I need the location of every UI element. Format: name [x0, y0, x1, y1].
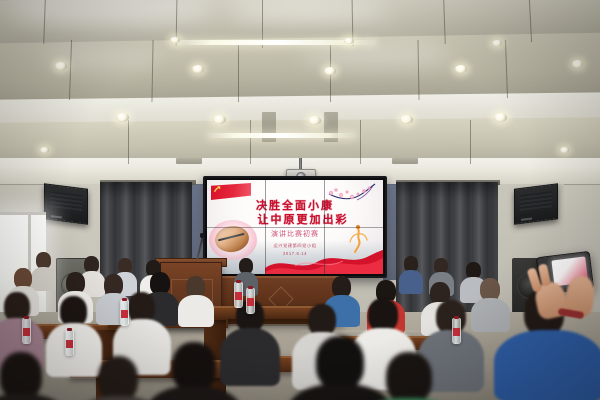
water-bottle[interactable] [246, 288, 255, 314]
projection-screen[interactable]: 决胜全面小康 让中原更加出彩 演讲比赛初赛 运兴党建第四党小组 2017.6.1… [203, 176, 387, 278]
torso [220, 328, 280, 386]
linear-light-fixture [208, 133, 356, 138]
bottle-cap [122, 298, 127, 301]
slide-organization: 运兴党建第四党小组 [207, 243, 383, 249]
bottle-label [247, 298, 254, 306]
slide-date: 2017.6.14 [207, 251, 383, 256]
bottle-label [453, 328, 460, 336]
ceiling-downlight [192, 65, 204, 73]
ceiling-downlight [324, 67, 336, 75]
ceiling-seam [250, 120, 251, 164]
head [98, 356, 138, 400]
water-bottle[interactable] [22, 318, 31, 344]
ceiling-seam [360, 120, 361, 164]
screen-surface: 决胜全面小康 让中原更加出彩 演讲比赛初赛 运兴党建第四党小组 2017.6.1… [207, 180, 383, 274]
ceiling-seam [238, 40, 239, 102]
video-wall-seam [207, 227, 383, 228]
torso [46, 323, 102, 377]
water-bottle[interactable] [65, 330, 74, 356]
water-bottle[interactable] [120, 300, 129, 326]
bottle-cap [454, 316, 459, 319]
ceiling-downlight [572, 60, 583, 68]
ceiling-vent [392, 158, 418, 164]
window-frame [0, 212, 46, 215]
bottle-cap [67, 328, 72, 331]
slide-title-line2: 让中原更加出彩 [207, 211, 383, 227]
torso [178, 295, 214, 327]
speaker-brand-mark [51, 215, 62, 218]
ceiling-downlight [213, 115, 226, 124]
head [172, 342, 216, 392]
ceiling-downlight [494, 113, 507, 122]
head [436, 300, 466, 334]
bottle-label [235, 292, 242, 300]
hammer-sickle-emblem-icon [213, 185, 222, 194]
ceiling-downlight [344, 38, 354, 44]
water-bottle[interactable] [452, 318, 461, 344]
bottle-label [66, 340, 73, 348]
ceiling-seam [128, 120, 129, 164]
ceiling [0, 0, 600, 176]
slide-subtitle: 演讲比赛初赛 [207, 229, 383, 239]
microphone-head-icon [200, 233, 204, 238]
speaker-brand-mark [521, 217, 532, 220]
ceiling-downlight [55, 62, 67, 70]
wall-speaker-right [514, 183, 558, 224]
ceiling-downlight [455, 65, 467, 73]
ceiling-seam [470, 120, 471, 164]
ceiling-downlight [40, 147, 49, 153]
bottle-label [121, 310, 128, 318]
torso [494, 330, 600, 400]
conference-hall-photo: 决胜全面小康 让中原更加出彩 演讲比赛初赛 运兴党建第四党小组 2017.6.1… [0, 0, 600, 400]
bottle-label [23, 328, 30, 336]
head [368, 298, 398, 332]
ceiling-downlight [116, 113, 129, 122]
water-bottle[interactable] [234, 282, 243, 308]
bottle-cap [248, 286, 253, 289]
ceiling-downlight [492, 40, 502, 46]
head [316, 336, 364, 390]
ceiling-vent [176, 158, 202, 164]
torso [31, 267, 56, 291]
ceiling-downlight [170, 37, 180, 43]
torso [399, 270, 423, 294]
ceiling-downlight [308, 116, 321, 125]
wall-speaker-left [44, 183, 88, 224]
ceiling-downlight [560, 147, 569, 153]
torso [471, 298, 510, 332]
bottle-cap [236, 280, 241, 283]
bottle-cap [24, 316, 29, 319]
head [386, 352, 432, 400]
head [0, 352, 42, 400]
ceiling-downlight [400, 115, 413, 124]
